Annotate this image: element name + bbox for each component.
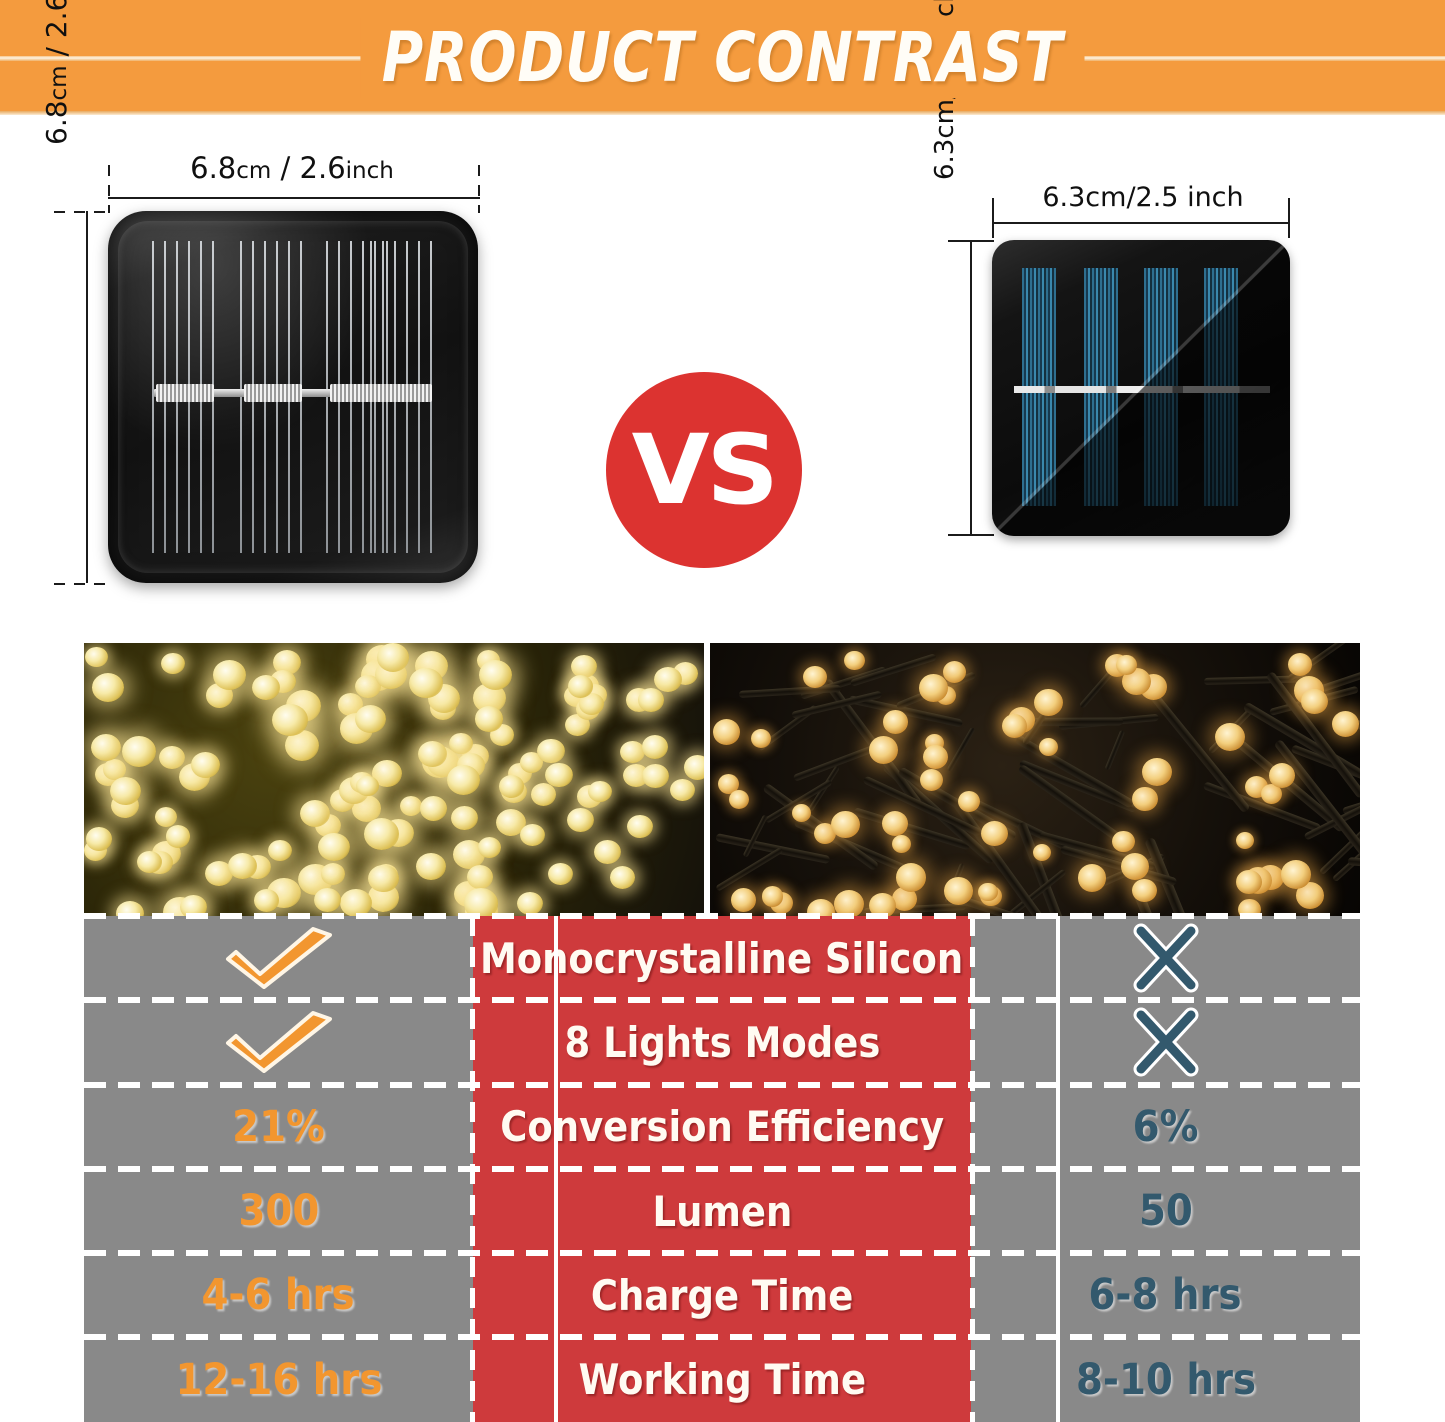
header-banner: PRODUCT CONTRAST bbox=[0, 0, 1445, 115]
row-divider bbox=[84, 1166, 1360, 1172]
cell-feature-name: Monocrystalline Silicon bbox=[473, 916, 971, 1000]
cell-others-value: 8-10 hrs bbox=[971, 1337, 1360, 1421]
table-row: 8 Lights Modes bbox=[84, 1000, 1360, 1084]
cell-feature-name: Working Time bbox=[473, 1337, 971, 1421]
cell-feature-name: Conversion Efficiency bbox=[473, 1085, 971, 1169]
cell-ours-value bbox=[84, 1000, 473, 1084]
table-row: 4-6 hrs Charge Time 6-8 hrs bbox=[84, 1253, 1360, 1337]
panel-comparison-area: 6.8cm / 2.6inch 6.8cm / 2.6inch bbox=[0, 115, 1445, 643]
cell-others-value: 50 bbox=[971, 1169, 1360, 1253]
ours-height-measure-line bbox=[86, 211, 88, 583]
ours-panel-block: 6.8cm / 2.6inch 6.8cm / 2.6inch bbox=[40, 145, 520, 645]
ours-solar-panel-image bbox=[108, 211, 478, 583]
row-divider bbox=[84, 997, 1360, 1003]
comparison-table: Monocrystalline Silicon 8 Lights Modes bbox=[84, 916, 1360, 1422]
ours-width-dimension-label: 6.8cm / 2.6inch bbox=[102, 151, 482, 185]
others-width-dimension-label: 6.3cm/2.5 inch bbox=[988, 182, 1298, 213]
others-led-photo bbox=[710, 643, 1360, 916]
cell-others-value: 6-8 hrs bbox=[971, 1253, 1360, 1337]
cell-ours-value: 300 bbox=[84, 1169, 473, 1253]
ours-height-tick-top bbox=[54, 211, 110, 213]
busbar-segment-2 bbox=[244, 384, 302, 402]
others-value: 6-8 hrs bbox=[1089, 1270, 1242, 1320]
others-solar-panel-image bbox=[992, 240, 1290, 536]
check-icon bbox=[220, 925, 338, 991]
panel-diagonal-shadow bbox=[992, 240, 1290, 536]
others-height-measure-line bbox=[970, 240, 972, 536]
ours-value: 12-16 hrs bbox=[175, 1355, 382, 1405]
table-vdivider-mid bbox=[970, 916, 975, 1422]
others-width-measure-line bbox=[992, 222, 1290, 224]
ours-led-photo bbox=[84, 643, 704, 916]
cell-ours-value: 21% bbox=[84, 1085, 473, 1169]
cross-icon bbox=[1131, 1007, 1201, 1077]
cell-ours-value: 12-16 hrs bbox=[84, 1337, 473, 1421]
feature-label: Working Time bbox=[578, 1355, 865, 1404]
cell-others-value bbox=[971, 1000, 1360, 1084]
others-width-tick-right bbox=[1288, 198, 1290, 238]
cross-icon bbox=[1131, 923, 1201, 993]
feature-label: Charge Time bbox=[591, 1271, 853, 1320]
others-width-tick-left bbox=[992, 198, 994, 238]
others-height-tick-bottom bbox=[948, 534, 994, 536]
ours-value: 300 bbox=[238, 1186, 319, 1236]
row-divider bbox=[84, 1334, 1360, 1340]
table-row: 21% Conversion Efficiency 6% bbox=[84, 1085, 1360, 1169]
cell-feature-name: Charge Time bbox=[473, 1253, 971, 1337]
busbar-segment-1 bbox=[156, 384, 214, 402]
others-value: 50 bbox=[1139, 1186, 1193, 1236]
vs-label: VS bbox=[632, 414, 776, 526]
row-divider bbox=[84, 1250, 1360, 1256]
others-value: 8-10 hrs bbox=[1076, 1355, 1256, 1405]
cell-feature-name: 8 Lights Modes bbox=[473, 1000, 971, 1084]
cell-feature-name: Lumen bbox=[473, 1169, 971, 1253]
row-divider bbox=[84, 913, 1360, 919]
check-icon bbox=[220, 1009, 338, 1075]
busbar-segment-4 bbox=[374, 384, 432, 402]
table-vdivider-left bbox=[470, 916, 475, 1422]
vs-badge: VS bbox=[606, 372, 802, 568]
others-panel-block: 6.3cm/2.5 inch 6.3cm/2.5 inch bbox=[930, 180, 1330, 650]
cell-ours-value bbox=[84, 916, 473, 1000]
cell-others-value bbox=[971, 916, 1360, 1000]
ours-height-dimension-label: 6.8cm / 2.6inch bbox=[40, 0, 73, 145]
others-value: 6% bbox=[1133, 1102, 1199, 1152]
table-row: 12-16 hrs Working Time 8-10 hrs bbox=[84, 1337, 1360, 1421]
row-divider bbox=[84, 1082, 1360, 1088]
feature-label: Monocrystalline Silicon bbox=[480, 934, 963, 983]
table-col-border-mid-left bbox=[554, 916, 558, 1422]
product-photo-row bbox=[84, 643, 1360, 916]
cell-others-value: 6% bbox=[971, 1085, 1360, 1169]
ours-width-measure-line bbox=[108, 197, 480, 199]
ours-value: 4-6 hrs bbox=[202, 1270, 355, 1320]
ours-width-tick-right bbox=[478, 165, 480, 213]
feature-label: Lumen bbox=[652, 1187, 792, 1236]
cell-ours-value: 4-6 hrs bbox=[84, 1253, 473, 1337]
page-title: PRODUCT CONTRAST bbox=[361, 18, 1085, 98]
feature-label: 8 Lights Modes bbox=[564, 1018, 880, 1067]
table-row: 300 Lumen 50 bbox=[84, 1169, 1360, 1253]
ours-height-tick-bottom bbox=[54, 583, 110, 585]
feature-label: Conversion Efficiency bbox=[500, 1102, 944, 1151]
table-col-border-mid-right bbox=[1056, 916, 1060, 1422]
ours-width-tick-left bbox=[108, 165, 110, 213]
ours-value: 21% bbox=[232, 1102, 325, 1152]
others-height-tick-top bbox=[948, 240, 994, 242]
table-row: Monocrystalline Silicon bbox=[84, 916, 1360, 1000]
